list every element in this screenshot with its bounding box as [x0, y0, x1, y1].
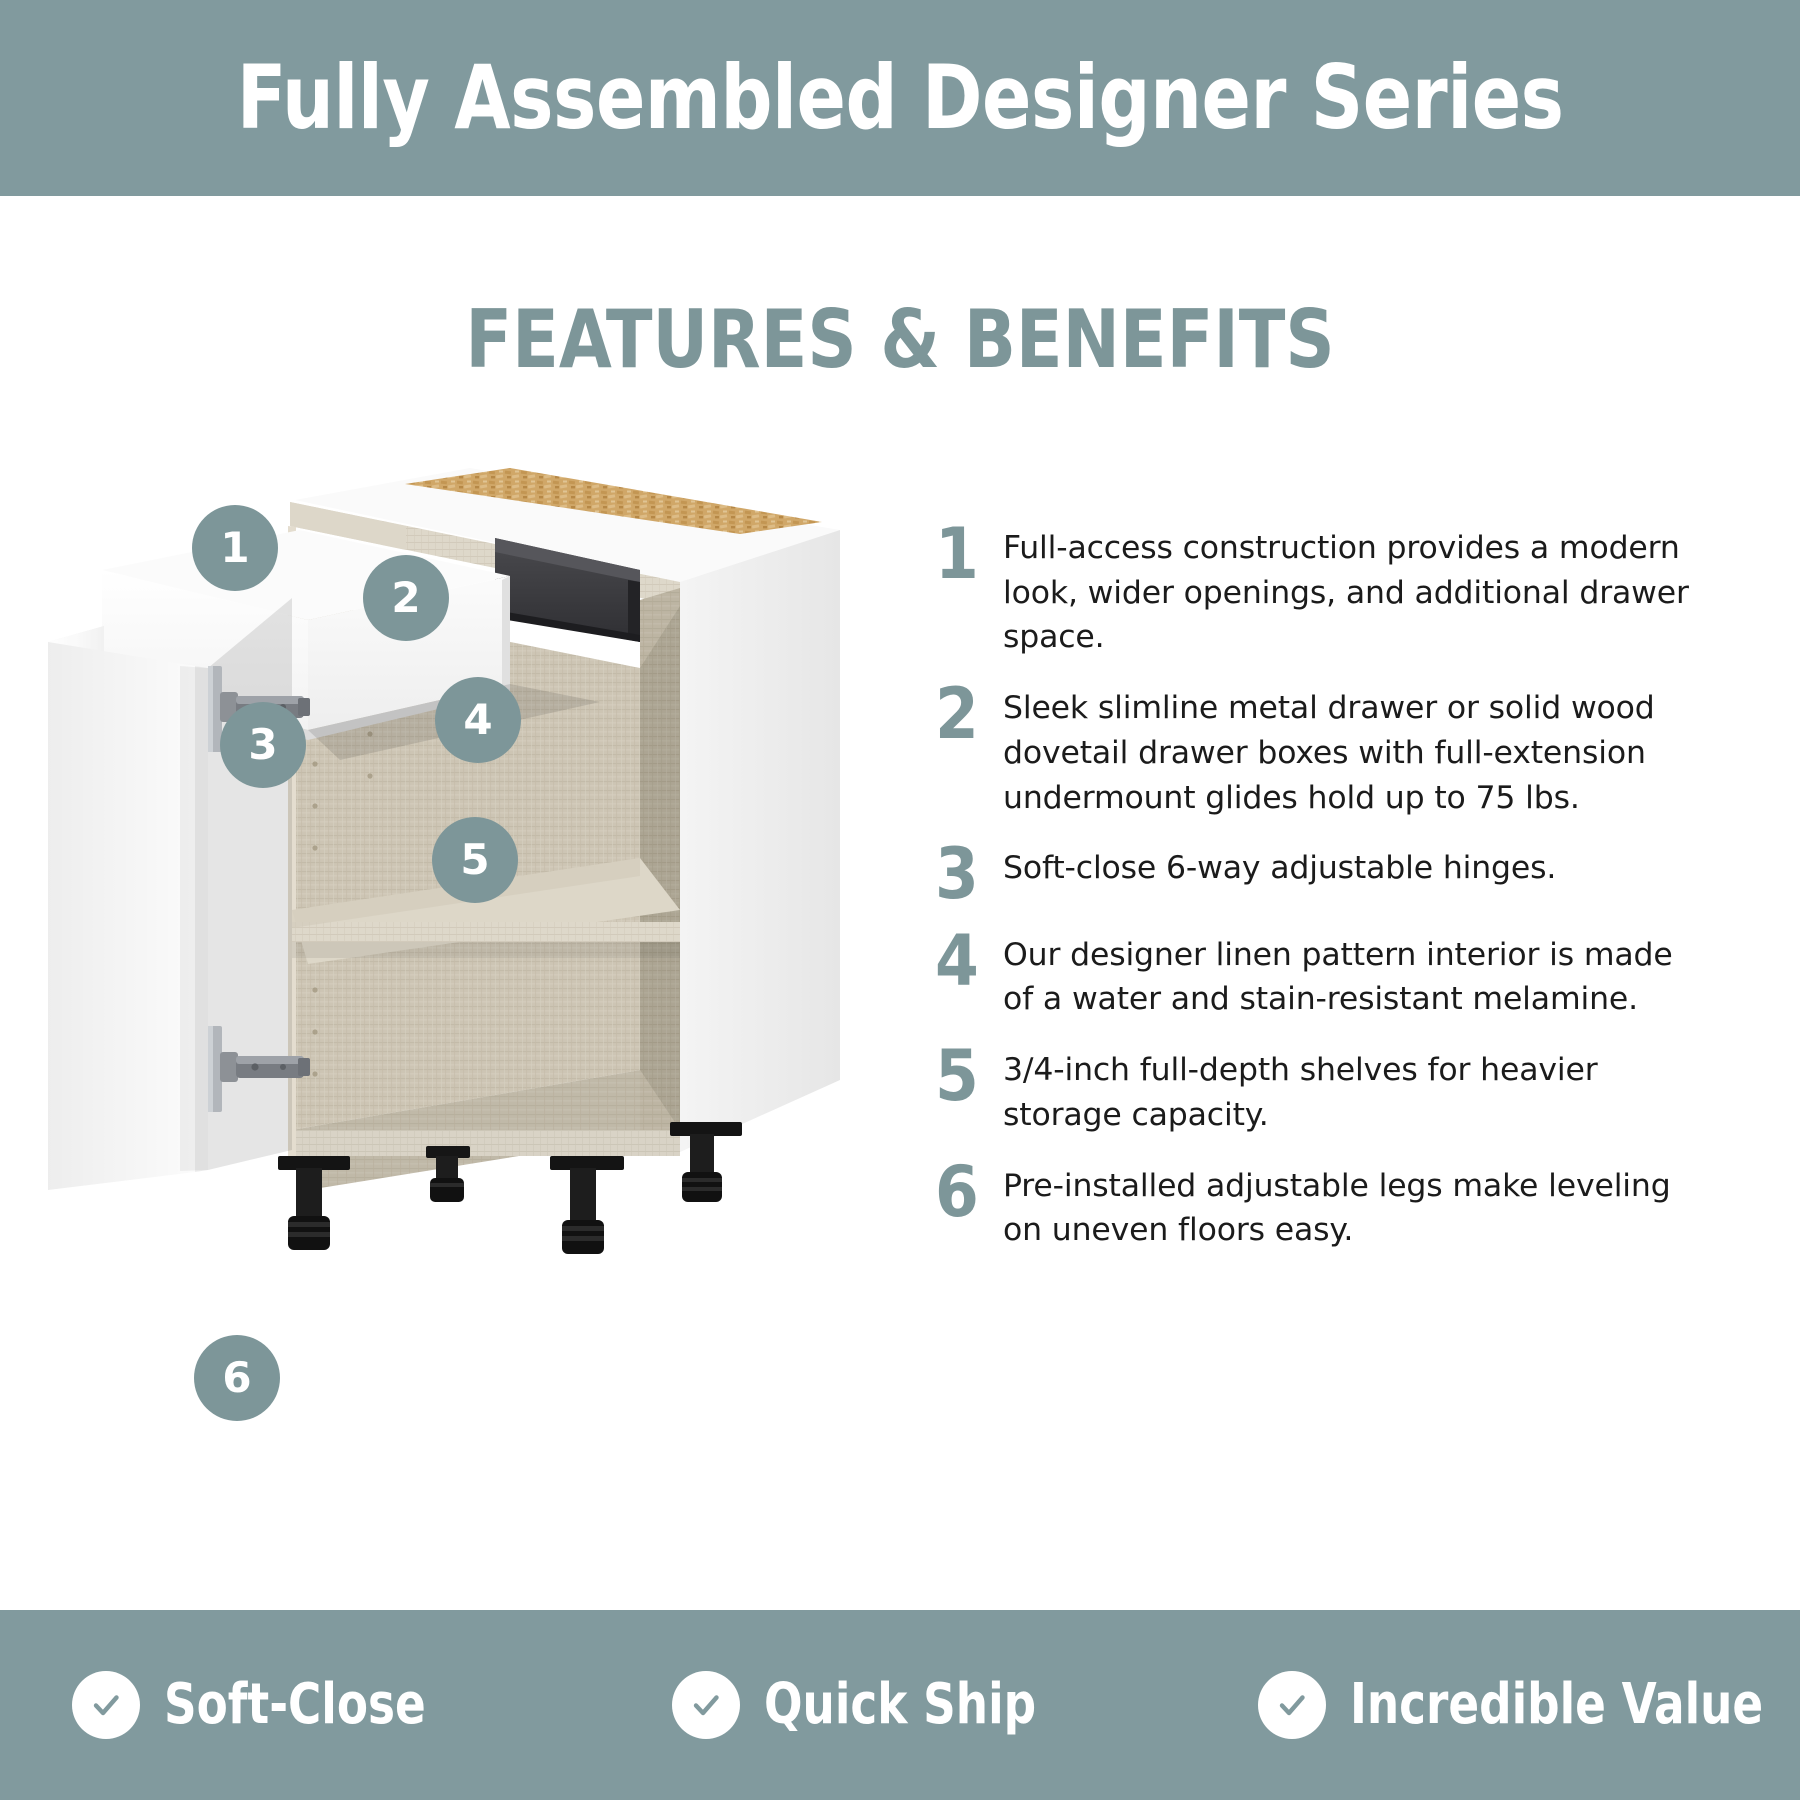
header-banner: Fully Assembled Designer Series — [0, 0, 1800, 196]
feature-number-1: 1 — [935, 522, 1003, 586]
footer-badge-soft-close: Soft-Close — [72, 1671, 455, 1739]
features-list: 1 Full-access construction provides a mo… — [935, 522, 1695, 1275]
feature-number-5: 5 — [935, 1044, 1003, 1108]
feature-number-2: 2 — [935, 682, 1003, 746]
check-circle-icon — [672, 1671, 740, 1739]
callout-badge-2: 2 — [363, 555, 449, 641]
callout-badge-3: 3 — [220, 702, 306, 788]
callout-badge-4: 4 — [435, 677, 521, 763]
product-illustration: 1 2 3 4 5 6 — [40, 430, 870, 1360]
callout-badge-5: 5 — [432, 817, 518, 903]
footer-banner: Soft-Close Quick Ship Incredible Value — [0, 1610, 1800, 1800]
page-title: Fully Assembled Designer Series — [237, 54, 1564, 142]
feature-item-4: 4 Our designer linen pattern interior is… — [935, 929, 1695, 1022]
callout-badge-1: 1 — [192, 505, 278, 591]
check-circle-icon — [72, 1671, 140, 1739]
feature-text-6: Pre-installed adjustable legs make level… — [1003, 1160, 1695, 1253]
section-heading: FEATURES & BENEFITS — [45, 300, 1755, 380]
feature-item-3: 3 Soft-close 6-way adjustable hinges. — [935, 842, 1695, 906]
footer-badge-quick-ship: Quick Ship — [672, 1671, 1066, 1739]
feature-text-4: Our designer linen pattern interior is m… — [1003, 929, 1695, 1022]
feature-text-1: Full-access construction provides a mode… — [1003, 522, 1695, 660]
check-circle-icon — [1258, 1671, 1326, 1739]
feature-item-5: 5 3/4-inch full-depth shelves for heavie… — [935, 1044, 1695, 1137]
feature-text-3: Soft-close 6-way adjustable hinges. — [1003, 842, 1695, 891]
feature-number-3: 3 — [935, 842, 1003, 906]
feature-item-1: 1 Full-access construction provides a mo… — [935, 522, 1695, 660]
footer-badge-incredible-value: Incredible Value — [1258, 1671, 1800, 1739]
callout-badge-6: 6 — [194, 1335, 280, 1421]
feature-item-6: 6 Pre-installed adjustable legs make lev… — [935, 1160, 1695, 1253]
feature-number-4: 4 — [935, 929, 1003, 993]
cabinet-door — [48, 626, 208, 1190]
feature-text-5: 3/4-inch full-depth shelves for heavier … — [1003, 1044, 1695, 1137]
footer-label-quick-ship: Quick Ship — [764, 1677, 1036, 1733]
feature-item-2: 2 Sleek slimline metal drawer or solid w… — [935, 682, 1695, 820]
feature-text-2: Sleek slimline metal drawer or solid woo… — [1003, 682, 1695, 820]
footer-label-incredible-value: Incredible Value — [1350, 1677, 1763, 1733]
footer-label-soft-close: Soft-Close — [164, 1677, 426, 1733]
feature-number-6: 6 — [935, 1160, 1003, 1224]
